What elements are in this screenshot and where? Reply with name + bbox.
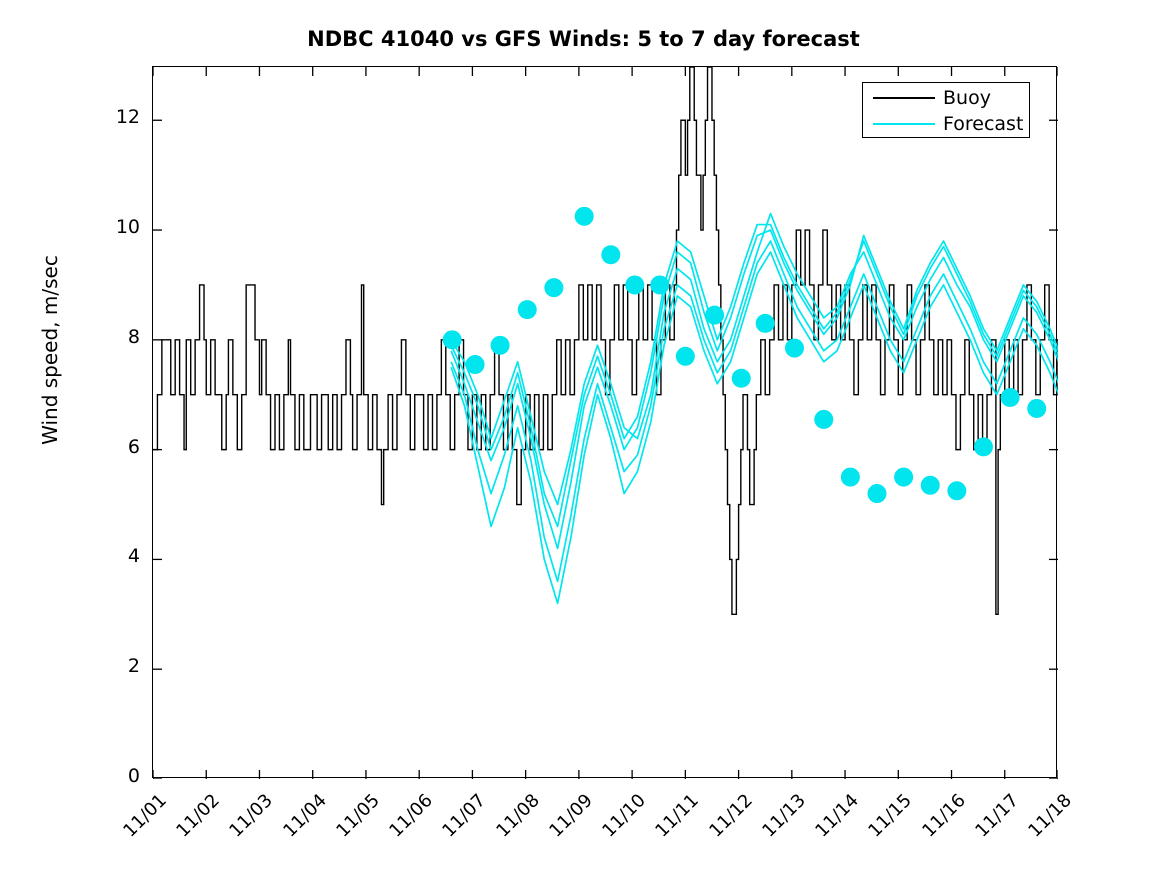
forecast-marker-dot bbox=[974, 437, 993, 456]
forecast-marker-dot bbox=[947, 481, 966, 500]
forecast-line-series bbox=[451, 214, 1058, 604]
forecast-marker-dot bbox=[625, 275, 644, 294]
forecast-marker-dot bbox=[518, 300, 537, 319]
y-tick-label: 6 bbox=[100, 436, 140, 458]
legend-label-forecast: Forecast bbox=[943, 111, 1023, 137]
y-tick-label: 10 bbox=[100, 216, 140, 238]
forecast-marker-dot bbox=[676, 347, 695, 366]
forecast-marker-dot bbox=[921, 476, 940, 495]
legend-item-forecast: Forecast bbox=[863, 111, 1031, 137]
legend-item-buoy: Buoy bbox=[863, 85, 1031, 111]
forecast-marker-dot bbox=[841, 468, 860, 487]
forecast-marker-dot bbox=[785, 339, 804, 358]
legend-swatch-buoy bbox=[873, 97, 935, 99]
forecast-marker-dot bbox=[732, 369, 751, 388]
legend: Buoy Forecast bbox=[862, 82, 1030, 138]
chart-svg bbox=[153, 67, 1058, 779]
plot-area bbox=[152, 66, 1057, 778]
forecast-marker-dot bbox=[1001, 388, 1020, 407]
x-axis-ticks: 11/0111/0211/0311/0411/0511/0611/0711/08… bbox=[152, 778, 1057, 873]
figure-canvas: NDBC 41040 vs GFS Winds: 5 to 7 day fore… bbox=[0, 0, 1167, 875]
y-axis-ticks: 024681012 bbox=[96, 66, 140, 778]
page-title: NDBC 41040 vs GFS Winds: 5 to 7 day fore… bbox=[0, 27, 1167, 51]
forecast-marker-dot bbox=[705, 306, 724, 325]
y-tick-marks bbox=[153, 120, 1058, 779]
forecast-marker-dot bbox=[601, 245, 620, 264]
buoy-step-series bbox=[153, 67, 1058, 614]
y-tick-label: 8 bbox=[100, 326, 140, 348]
y-tick-label: 0 bbox=[100, 765, 140, 787]
forecast-marker-dot bbox=[491, 336, 510, 355]
forecast-marker-dot bbox=[814, 410, 833, 429]
legend-label-buoy: Buoy bbox=[943, 85, 991, 111]
forecast-marker-dot bbox=[466, 355, 485, 374]
forecast-marker-dot bbox=[544, 278, 563, 297]
y-axis-label: Wind speed, m/sec bbox=[38, 40, 62, 660]
forecast-marker-dot bbox=[1027, 399, 1046, 418]
forecast-marker-dot bbox=[650, 275, 669, 294]
forecast-marker-dot bbox=[894, 468, 913, 487]
forecast-marker-dot bbox=[443, 330, 462, 349]
forecast-marker-dot bbox=[756, 314, 775, 333]
y-tick-label: 12 bbox=[100, 106, 140, 128]
forecast-marker-dot bbox=[575, 207, 594, 226]
y-tick-label: 2 bbox=[100, 655, 140, 677]
legend-swatch-forecast bbox=[873, 123, 935, 125]
forecast-marker-points bbox=[443, 207, 1047, 503]
forecast-marker-dot bbox=[868, 484, 887, 503]
y-tick-label: 4 bbox=[100, 545, 140, 567]
